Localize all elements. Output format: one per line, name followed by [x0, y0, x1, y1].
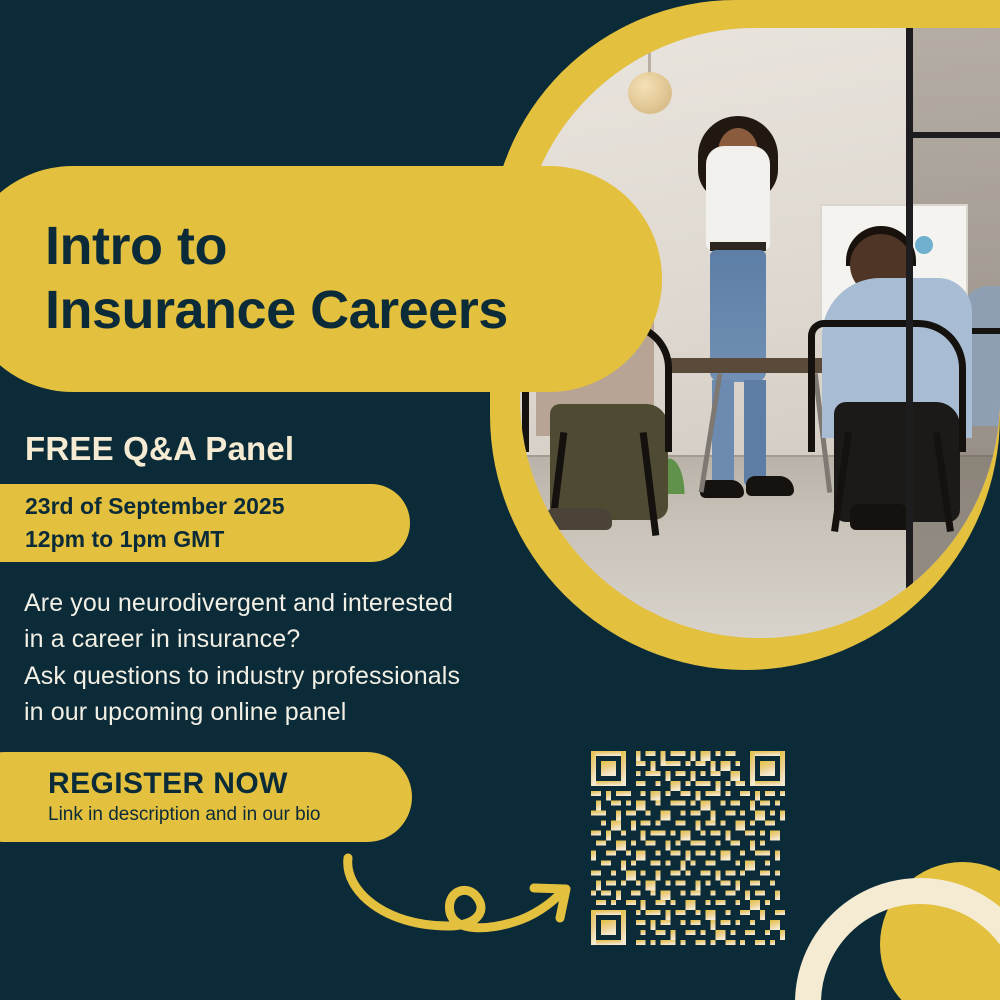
photo-presenter-leg-right — [744, 380, 766, 488]
page-title-line-2: Insurance Careers — [45, 279, 662, 343]
photo-glass-mullion — [906, 28, 913, 638]
curved-arrow-icon — [338, 852, 590, 956]
photo-pendant-lamp — [628, 72, 672, 114]
photo-glass-transom — [906, 132, 1000, 138]
photo-presenter-top — [706, 146, 770, 250]
body-line-2: in a career in insurance? — [24, 621, 544, 657]
photo-presenter-shoe-right — [746, 476, 794, 496]
schedule-pill: 23rd of September 2025 12pm to 1pm GMT — [0, 484, 410, 562]
decorative-ring — [795, 878, 1000, 1000]
body-copy: Are you neurodivergent and interested in… — [24, 585, 544, 730]
panel-heading: FREE Q&A Panel — [25, 430, 294, 468]
title-pill: Intro to Insurance Careers — [0, 166, 662, 392]
body-line-3: Ask questions to industry professionals — [24, 658, 544, 694]
photo-attendee-right-chair — [808, 320, 966, 452]
page-title-line-1: Intro to — [45, 215, 662, 279]
photo-whiteboard-dot — [915, 236, 933, 254]
event-date: 23rd of September 2025 — [25, 490, 410, 523]
event-time: 12pm to 1pm GMT — [25, 523, 410, 556]
qr-code-icon[interactable] — [586, 746, 790, 950]
body-line-1: Are you neurodivergent and interested — [24, 585, 544, 621]
photo-presenter-shoe-left — [700, 480, 744, 498]
poster-canvas: Intro to Insurance Careers FREE Q&A Pane… — [0, 0, 1000, 1000]
register-now-label: REGISTER NOW — [48, 766, 412, 801]
photo-attendee-left-shoe — [546, 508, 612, 530]
register-now-button[interactable]: REGISTER NOW Link in description and in … — [0, 752, 412, 842]
body-line-4: in our upcoming online panel — [24, 694, 544, 730]
photo-attendee-right-shoe — [850, 504, 912, 530]
register-now-subtitle: Link in description and in our bio — [48, 802, 412, 828]
photo-lamp-cord — [648, 28, 651, 76]
